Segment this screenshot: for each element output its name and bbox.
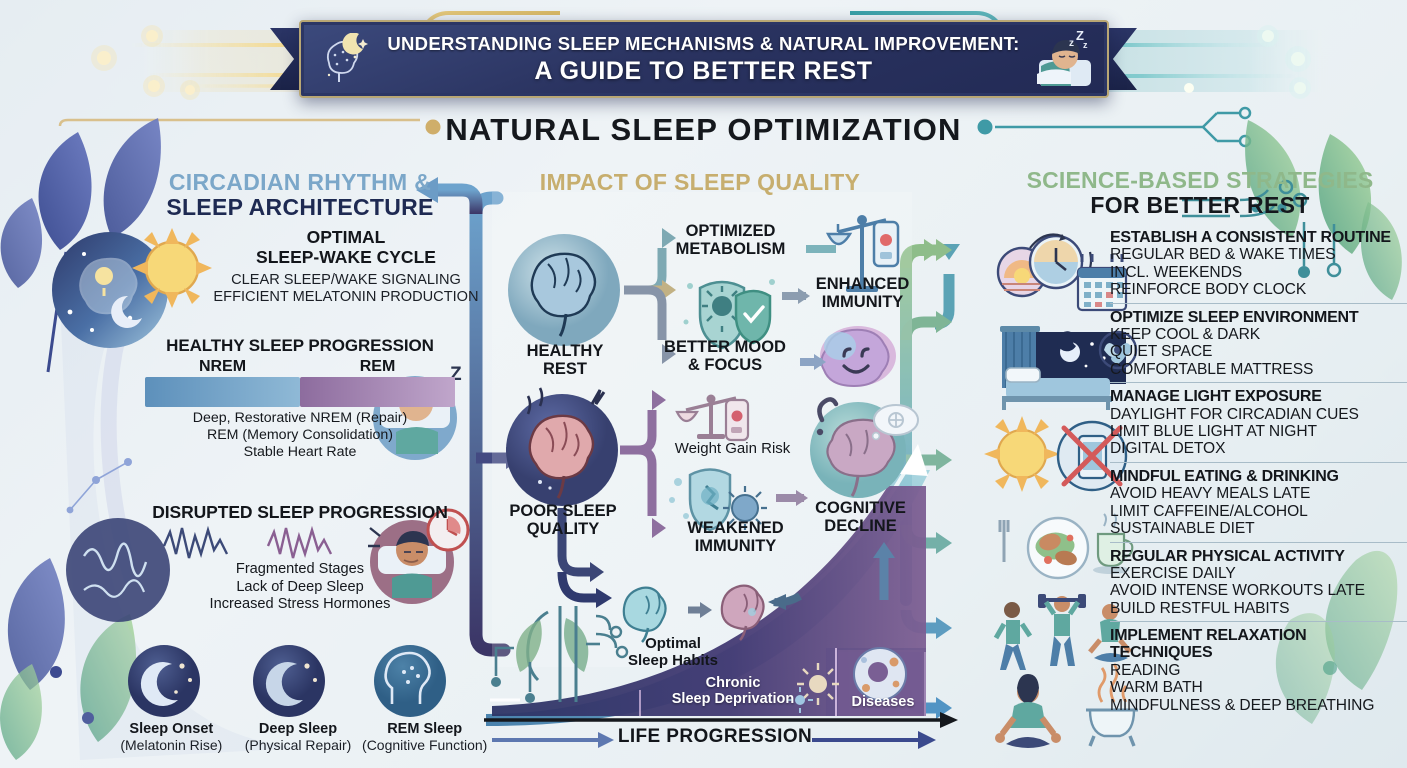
svg-text:z: z [1083, 40, 1088, 50]
sleep-stage-legend: Sleep Onset (Melatonin Rise) Deep Sleep … [108, 640, 488, 753]
left-heading-line1: CIRCADIAN RHYTHM & [140, 170, 460, 195]
optimized-metabolism-text: OPTIMIZEDMETABOLISM [676, 222, 786, 258]
optimal-sleep-wake-cycle-block: OPTIMAL SLEEP-WAKE CYCLE CLEAR SLEEP/WAK… [196, 228, 496, 307]
better-mood-text: BETTER MOOD& FOCUS [664, 338, 786, 374]
circadian-sun-moon-icon [52, 228, 212, 348]
optimal-cycle-title-line2: SLEEP-WAKE CYCLE [256, 247, 436, 267]
stage-2-name: REM Sleep [361, 721, 488, 737]
stage-legend-item: REM Sleep (Cognitive Function) [361, 640, 488, 753]
healthy-progression-desc-line3: Stable Heart Rate [145, 444, 455, 461]
strategy-row[interactable]: ESTABLISH A CONSISTENT ROUTINE REGULAR B… [990, 228, 1407, 299]
sleep-stage-bars: NREM REM [145, 358, 455, 407]
poor-sleep-text: POOR SLEEPQUALITY [509, 502, 616, 538]
strategy-0-line-1: INCL. WEEKENDS [1110, 264, 1407, 281]
optimized-metabolism-label: OPTIMIZEDMETABOLISM [663, 222, 798, 258]
optimal-cycle-title-line1: OPTIMAL [307, 227, 386, 247]
strategy-text: MANAGE LIGHT EXPOSURE DAYLIGHT FOR CIRCA… [1110, 387, 1407, 458]
nrem-label: NREM [145, 358, 300, 376]
strategy-1-line-0: KEEP COOL & DARK [1110, 326, 1407, 343]
strategy-row[interactable]: OPTIMIZE SLEEP ENVIRONMENT KEEP COOL & D… [990, 308, 1407, 379]
rem-label: REM [300, 358, 455, 376]
enhanced-immunity-text: ENHANCEDIMMUNITY [816, 275, 910, 311]
poor-sleep-quality-label: POOR SLEEPQUALITY [498, 502, 628, 538]
strategy-5-line-2: MINDFULNESS & DEEP BREATHING [1110, 697, 1407, 714]
optimal-cycle-desc-line1: CLEAR SLEEP/WAKE SIGNALING [231, 272, 461, 288]
divider [1110, 303, 1407, 304]
brain-moon-icon [317, 33, 371, 85]
stage-legend-item: Sleep Onset (Melatonin Rise) [108, 640, 235, 753]
divider [1110, 462, 1407, 463]
strategy-4-title: REGULAR PHYSICAL ACTIVITY [1110, 548, 1407, 565]
sleeping-person-icon: z Z z [1027, 30, 1093, 88]
stage-0-sub: (Melatonin Rise) [108, 737, 235, 753]
stage-1-name: Deep Sleep [235, 721, 362, 737]
strategy-3-line-0: AVOID HEAVY MEALS LATE [1110, 485, 1407, 502]
healthy-rest-label: HEALTHYREST [505, 342, 625, 378]
happy-brain-icon [820, 326, 896, 386]
left-heading-line2: SLEEP ARCHITECTURE [140, 195, 460, 220]
banner-text: UNDERSTANDING SLEEP MECHANISMS & NATURAL… [317, 33, 1089, 86]
right-heading-line2: FOR BETTER REST [995, 193, 1405, 218]
optimal-cycle-desc-line2: EFFICIENT MELATONIN PRODUCTION [213, 289, 478, 305]
healthy-rest-brain-icon [508, 234, 620, 346]
strategy-2-line-2: DIGITAL DETOX [1110, 440, 1407, 457]
strategy-5-line-1: WARM BATH [1110, 679, 1407, 696]
stage-1-sub: (Physical Repair) [235, 737, 362, 753]
strategy-0-line-2: REINFORCE BODY CLOCK [1110, 281, 1407, 298]
strategy-3-line-2: SUSTAINABLE DIET [1110, 520, 1407, 537]
strategy-5-line-0: READING [1110, 662, 1407, 679]
disrupted-progression-title: DISRUPTED SLEEP PROGRESSION [140, 502, 460, 523]
strategy-text: OPTIMIZE SLEEP ENVIRONMENT KEEP COOL & D… [1110, 308, 1407, 379]
disrupted-desc-line2: Lack of Deep Sleep [140, 579, 460, 597]
banner-title-line1: UNDERSTANDING SLEEP MECHANISMS & NATURAL… [387, 33, 1019, 55]
strategy-text: IMPLEMENT RELAXATION TECHNIQUES READING … [1110, 626, 1407, 714]
weight-gain-risk-label: Weight Gain Risk [660, 441, 805, 458]
nrem-stage: NREM [145, 358, 300, 407]
strategy-1-line-1: QUIET SPACE [1110, 343, 1407, 360]
strategy-text: MINDFUL EATING & DRINKING AVOID HEAVY ME… [1110, 467, 1407, 538]
strategy-row[interactable]: MANAGE LIGHT EXPOSURE DAYLIGHT FOR CIRCA… [990, 387, 1407, 458]
strategy-0-title: ESTABLISH A CONSISTENT ROUTINE [1110, 229, 1407, 246]
healthy-progression-title: HEALTHY SLEEP PROGRESSION [145, 336, 455, 356]
weight-gain-text: Weight Gain Risk [675, 440, 791, 457]
life-progression-axis-label: LIFE PROGRESSION [480, 726, 950, 748]
strategy-4-line-1: AVOID INTENSE WORKOUTS LATE [1110, 582, 1407, 599]
cell-icon [854, 648, 906, 700]
strategy-2-line-1: LIMIT BLUE LIGHT AT NIGHT [1110, 423, 1407, 440]
right-heading-line1: SCIENCE-BASED STRATEGIES [995, 168, 1405, 193]
disrupted-sleep-progression-block: DISRUPTED SLEEP PROGRESSION Fragmented S… [140, 502, 460, 614]
healthy-sleep-progression-block: HEALTHY SLEEP PROGRESSION NREM REM Deep,… [145, 336, 455, 461]
strategies-list: ESTABLISH A CONSISTENT ROUTINE REGULAR B… [990, 228, 1407, 714]
divider [1110, 621, 1407, 622]
page-title: NATURAL SLEEP OPTIMIZATION [0, 112, 1407, 148]
healthy-progression-desc-line1: Deep, Restorative NREM (Repair) [145, 410, 455, 427]
disrupted-desc-line1: Fragmented Stages [140, 561, 460, 579]
strategy-row[interactable]: IMPLEMENT RELAXATION TECHNIQUES READING … [990, 626, 1407, 714]
disrupted-eeg-bars [140, 525, 460, 559]
rem-stage: REM [300, 358, 455, 407]
strategy-text: REGULAR PHYSICAL ACTIVITY EXERCISE DAILY… [1110, 547, 1407, 618]
cognitive-decline-label: COGNITIVEDECLINE [798, 499, 923, 535]
healthy-progression-desc-line2: REM (Memory Consolidation) [145, 427, 455, 444]
banner-title-line2: A GUIDE TO BETTER REST [387, 57, 1019, 86]
optimal-sleep-habits-label: OptimalSleep Habits [608, 636, 738, 669]
strategy-3-title: MINDFUL EATING & DRINKING [1110, 468, 1407, 485]
nrem-wave-bar [145, 377, 300, 407]
diseases-label: Diseases [843, 694, 923, 710]
rem-wave-bar [300, 377, 455, 407]
strategy-5-title: IMPLEMENT RELAXATION TECHNIQUES [1110, 627, 1407, 662]
cognitive-decline-text: COGNITIVEDECLINE [815, 499, 906, 535]
strategy-1-title: OPTIMIZE SLEEP ENVIRONMENT [1110, 309, 1407, 326]
weakened-immunity-text: WEAKENEDIMMUNITY [687, 519, 783, 555]
disrupted-desc-line3: Increased Stress Hormones [140, 596, 460, 614]
header-banner: UNDERSTANDING SLEEP MECHANISMS & NATURAL… [0, 18, 1407, 100]
stage-2-sub: (Cognitive Function) [361, 737, 488, 753]
strategy-row[interactable]: MINDFUL EATING & DRINKING AVOID HEAVY ME… [990, 467, 1407, 538]
right-column-heading: SCIENCE-BASED STRATEGIES FOR BETTER REST [995, 168, 1405, 218]
strategy-4-line-2: BUILD RESTFUL HABITS [1110, 600, 1407, 617]
divider [1110, 382, 1407, 383]
strategy-0-line-0: REGULAR BED & WAKE TIMES [1110, 246, 1407, 263]
svg-text:z: z [1069, 38, 1074, 49]
chronic-sleep-deprivation-label: ChronicSleep Deprivation [668, 676, 798, 707]
strategy-2-line-0: DAYLIGHT FOR CIRCADIAN CUES [1110, 406, 1407, 423]
optimal-habits-text: OptimalSleep Habits [628, 635, 718, 669]
enhanced-immunity-label: ENHANCEDIMMUNITY [800, 275, 925, 311]
strategy-1-line-2: COMFORTABLE MATTRESS [1110, 361, 1407, 378]
divider [1110, 542, 1407, 543]
strategy-2-title: MANAGE LIGHT EXPOSURE [1110, 388, 1407, 405]
weakened-immunity-label: WEAKENEDIMMUNITY [668, 519, 803, 555]
diseases-text: Diseases [852, 694, 915, 710]
healthy-rest-text: HEALTHYREST [527, 342, 604, 378]
stage-legend-item: Deep Sleep (Physical Repair) [235, 640, 362, 753]
infographic-root: z Z [0, 0, 1407, 768]
stage-0-name: Sleep Onset [108, 721, 235, 737]
strategy-4-line-0: EXERCISE DAILY [1110, 565, 1407, 582]
strategy-row[interactable]: REGULAR PHYSICAL ACTIVITY EXERCISE DAILY… [990, 547, 1407, 618]
left-column-heading: CIRCADIAN RHYTHM & SLEEP ARCHITECTURE [140, 170, 460, 220]
center-column-heading: IMPACT OF SLEEP QUALITY [505, 170, 895, 195]
better-mood-focus-label: BETTER MOOD& FOCUS [655, 338, 795, 374]
strategy-text: ESTABLISH A CONSISTENT ROUTINE REGULAR B… [1110, 228, 1407, 299]
strategy-3-line-1: LIMIT CAFFEINE/ALCOHOL [1110, 503, 1407, 520]
banner-plate: UNDERSTANDING SLEEP MECHANISMS & NATURAL… [299, 20, 1109, 98]
center-heading-line1: IMPACT OF SLEEP QUALITY [505, 170, 895, 195]
chronic-deprivation-text: ChronicSleep Deprivation [672, 675, 794, 707]
